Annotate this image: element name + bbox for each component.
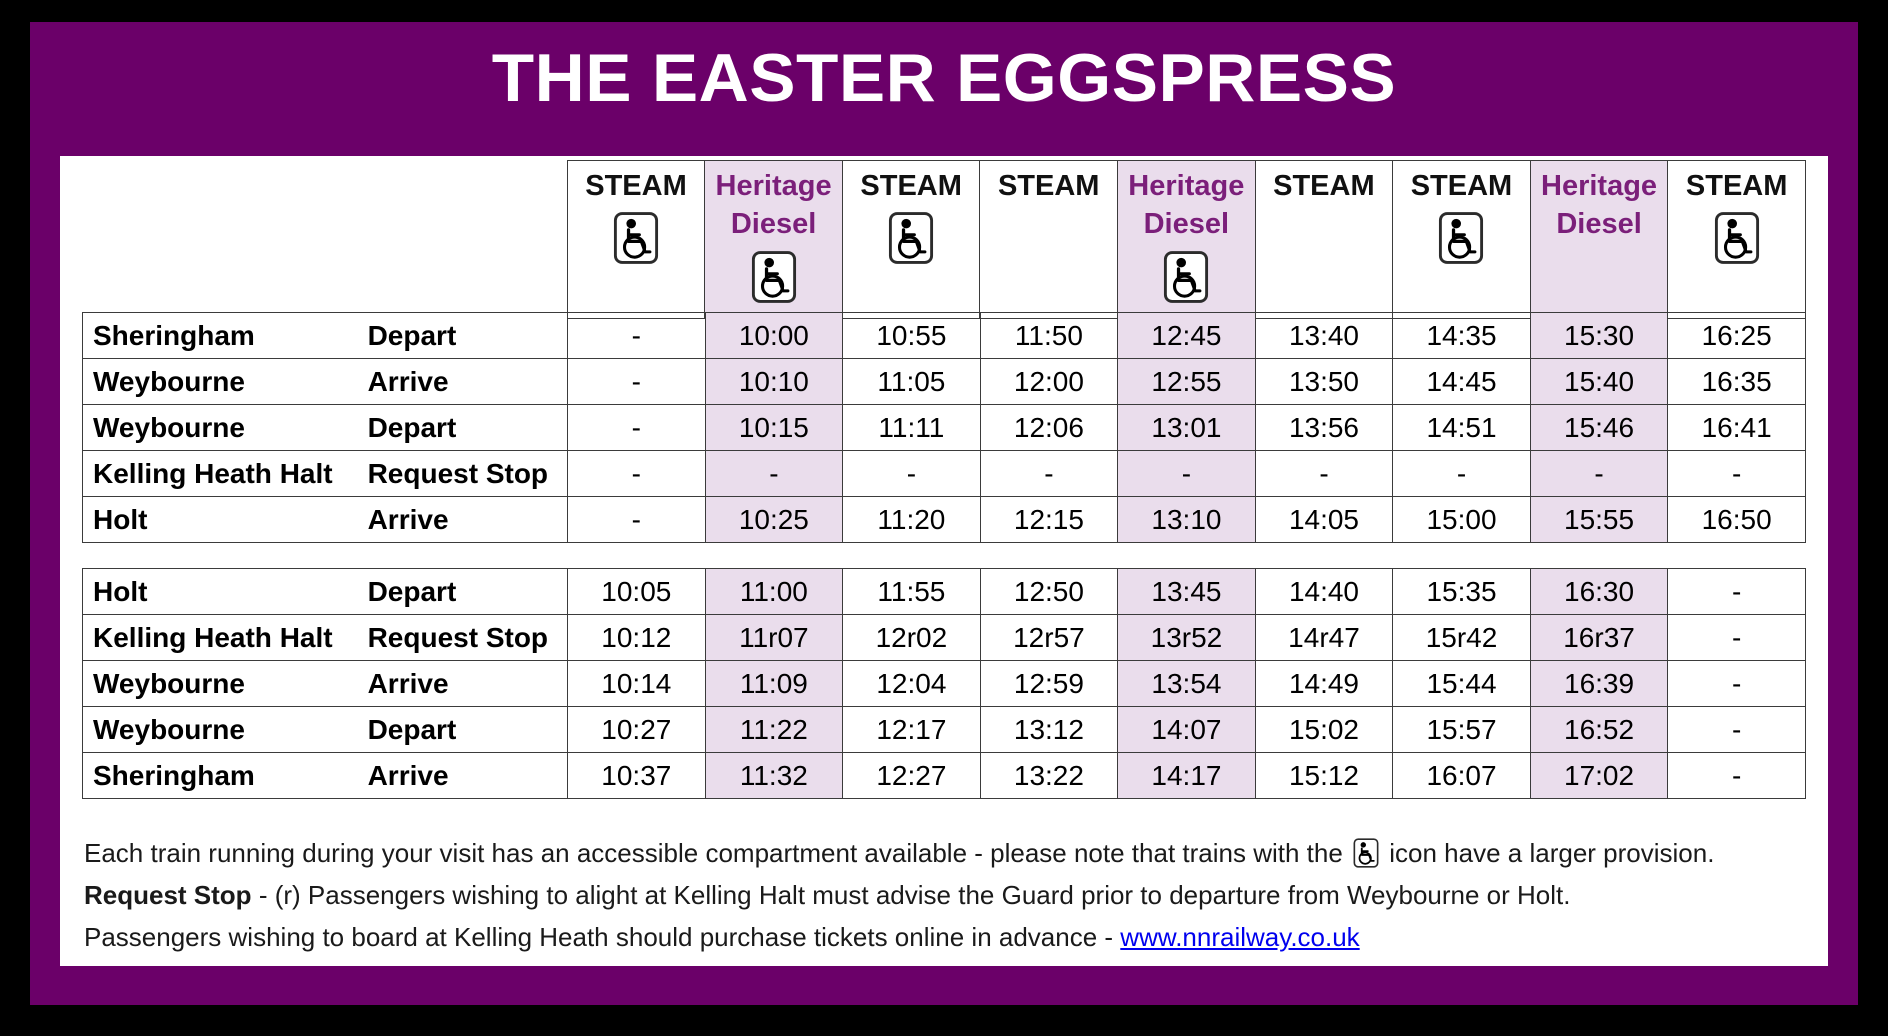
accessible-slot — [570, 211, 703, 275]
time-cell: - — [1393, 451, 1531, 497]
time-cell: - — [1668, 569, 1806, 615]
railway-website-link[interactable]: www.nnrailway.co.uk — [1120, 922, 1359, 952]
time-cell: 16:25 — [1668, 313, 1806, 359]
time-cell: 14:49 — [1255, 661, 1393, 707]
time-cell: - — [1530, 451, 1668, 497]
time-cell: 15:55 — [1530, 497, 1668, 543]
note-accessibility: Each train running during your visit has… — [84, 832, 1814, 874]
time-cell: 15:30 — [1530, 313, 1668, 359]
table-row: Kelling Heath HaltRequest Stop10:1211r07… — [83, 615, 1806, 661]
station-action: Arrive — [358, 661, 568, 707]
note-tickets-text: Passengers wishing to board at Kelling H… — [84, 922, 1113, 952]
time-cell: 11:00 — [705, 569, 843, 615]
service-header-6: STEAM — [1255, 161, 1393, 319]
station-action: Depart — [358, 405, 568, 451]
time-cell: 16:50 — [1668, 497, 1806, 543]
station-name: Kelling Heath Halt — [83, 615, 358, 661]
time-cell: 14:51 — [1393, 405, 1531, 451]
note-accessibility-text-before: Each train running during your visit has… — [84, 838, 1343, 868]
note-request-stop-text: - (r) Passengers wishing to alight at Ke… — [259, 880, 1571, 910]
accessible-slot — [1120, 250, 1253, 314]
station-name: Sheringham — [83, 753, 358, 799]
time-cell: 13:56 — [1255, 405, 1393, 451]
time-cell: - — [1668, 451, 1806, 497]
service-label-line1: Heritage — [1533, 167, 1666, 205]
service-header-2: HeritageDiesel — [705, 161, 843, 319]
time-cell: 13:10 — [1118, 497, 1256, 543]
time-cell: 13:40 — [1255, 313, 1393, 359]
note-tickets: Passengers wishing to board at Kelling H… — [84, 916, 1814, 958]
time-cell: 15:02 — [1255, 707, 1393, 753]
station-name: Weybourne — [83, 661, 358, 707]
time-cell: 13:54 — [1118, 661, 1256, 707]
time-cell: 13r52 — [1118, 615, 1256, 661]
wheelchair-icon — [1353, 837, 1379, 869]
wheelchair-icon — [1714, 211, 1760, 265]
time-cell: 14:17 — [1118, 753, 1256, 799]
note-request-stop-label: Request Stop — [84, 880, 252, 910]
service-label-line1: STEAM — [982, 167, 1115, 205]
time-cell: 15:40 — [1530, 359, 1668, 405]
time-cell: 16:41 — [1668, 405, 1806, 451]
station-action: Depart — [358, 707, 568, 753]
table-row: WeybourneArrive-10:1011:0512:0012:5513:5… — [83, 359, 1806, 405]
accessible-slot — [1533, 250, 1666, 314]
time-cell: 11:05 — [843, 359, 981, 405]
time-cell: 11:09 — [705, 661, 843, 707]
table-row: HoltDepart10:0511:0011:5512:5013:4514:40… — [83, 569, 1806, 615]
service-label-line2: Diesel — [1533, 205, 1666, 243]
table-row: HoltArrive-10:2511:2012:1513:1014:0515:0… — [83, 497, 1806, 543]
time-cell: 10:25 — [705, 497, 843, 543]
time-cell: 15:35 — [1393, 569, 1531, 615]
time-cell: 11:50 — [980, 313, 1118, 359]
station-action: Arrive — [358, 753, 568, 799]
service-label-line1: STEAM — [845, 167, 978, 205]
time-cell: - — [1118, 451, 1256, 497]
time-cell: 16:07 — [1393, 753, 1531, 799]
time-cell: - — [1668, 661, 1806, 707]
time-cell: 14:07 — [1118, 707, 1256, 753]
service-header-table: STEAMHeritageDieselSTEAMSTEAMHeritageDie… — [82, 160, 1806, 319]
service-label-line1: Heritage — [707, 167, 840, 205]
station-action: Arrive — [358, 497, 568, 543]
time-cell: - — [980, 451, 1118, 497]
station-name: Holt — [83, 497, 358, 543]
time-cell: 16:30 — [1530, 569, 1668, 615]
time-cell: - — [705, 451, 843, 497]
note-request-stop: Request Stop - (r) Passengers wishing to… — [84, 874, 1814, 916]
time-cell: 16:35 — [1668, 359, 1806, 405]
accessible-slot — [845, 211, 978, 275]
time-cell: 15:44 — [1393, 661, 1531, 707]
time-cell: 10:10 — [705, 359, 843, 405]
time-cell: 14:40 — [1255, 569, 1393, 615]
time-cell: - — [568, 451, 706, 497]
time-cell: 10:12 — [568, 615, 706, 661]
time-cell: 15:00 — [1393, 497, 1531, 543]
service-label-line1: STEAM — [1670, 167, 1803, 205]
table-row: WeybourneDepart10:2711:2212:1713:1214:07… — [83, 707, 1806, 753]
time-cell: 12:04 — [843, 661, 981, 707]
wheelchair-icon — [751, 250, 797, 304]
time-cell: 10:05 — [568, 569, 706, 615]
accessible-slot — [1670, 211, 1803, 275]
time-cell: 12:50 — [980, 569, 1118, 615]
time-cell: 13:50 — [1255, 359, 1393, 405]
time-cell: - — [568, 405, 706, 451]
time-cell: 10:27 — [568, 707, 706, 753]
accessible-slot — [1258, 211, 1391, 275]
station-action: Depart — [358, 569, 568, 615]
table-row: WeybourneDepart-10:1511:1112:0613:0113:5… — [83, 405, 1806, 451]
header-spacer-action — [357, 161, 567, 319]
service-header-1: STEAM — [567, 161, 705, 319]
service-label-line1: Heritage — [1120, 167, 1253, 205]
time-cell: 12:45 — [1118, 313, 1256, 359]
time-cell: 15r42 — [1393, 615, 1531, 661]
table-row: WeybourneArrive10:1411:0912:0412:5913:54… — [83, 661, 1806, 707]
time-cell: 10:14 — [568, 661, 706, 707]
time-cell: 11:20 — [843, 497, 981, 543]
service-header-7: STEAM — [1393, 161, 1531, 319]
outbound-timetable: SheringhamDepart-10:0010:5511:5012:4513:… — [82, 312, 1806, 543]
service-label-line1: STEAM — [1258, 167, 1391, 205]
time-cell: 10:00 — [705, 313, 843, 359]
time-cell: 10:55 — [843, 313, 981, 359]
service-label-line1: STEAM — [570, 167, 703, 205]
station-action: Request Stop — [358, 615, 568, 661]
time-cell: - — [843, 451, 981, 497]
header-spacer-station — [82, 161, 357, 319]
service-header-4: STEAM — [980, 161, 1118, 319]
time-cell: 11r07 — [705, 615, 843, 661]
service-label-line2: Diesel — [1120, 205, 1253, 243]
time-cell: 13:01 — [1118, 405, 1256, 451]
station-name: Weybourne — [83, 359, 358, 405]
wheelchair-icon — [613, 211, 659, 265]
time-cell: - — [1668, 615, 1806, 661]
time-cell: 12:55 — [1118, 359, 1256, 405]
time-cell: 12:17 — [843, 707, 981, 753]
time-cell: - — [1668, 707, 1806, 753]
time-cell: - — [1255, 451, 1393, 497]
time-cell: 11:55 — [843, 569, 981, 615]
time-cell: 12:00 — [980, 359, 1118, 405]
station-action: Request Stop — [358, 451, 568, 497]
wheelchair-icon — [1438, 211, 1484, 265]
time-cell: - — [568, 497, 706, 543]
time-cell: 15:12 — [1255, 753, 1393, 799]
note-accessibility-text-after: icon have a larger provision. — [1389, 838, 1714, 868]
time-cell: 12:59 — [980, 661, 1118, 707]
time-cell: 11:22 — [705, 707, 843, 753]
time-cell: - — [568, 313, 706, 359]
station-name: Kelling Heath Halt — [83, 451, 358, 497]
service-header-8: HeritageDiesel — [1530, 161, 1668, 319]
time-cell: 12r57 — [980, 615, 1118, 661]
station-action: Arrive — [358, 359, 568, 405]
station-name: Holt — [83, 569, 358, 615]
service-header-9: STEAM — [1668, 161, 1806, 319]
time-cell: 12r02 — [843, 615, 981, 661]
time-cell: 15:57 — [1393, 707, 1531, 753]
time-cell: - — [1668, 753, 1806, 799]
time-cell: 12:06 — [980, 405, 1118, 451]
time-cell: 16r37 — [1530, 615, 1668, 661]
return-timetable: HoltDepart10:0511:0011:5512:5013:4514:40… — [82, 568, 1806, 799]
wheelchair-icon — [888, 211, 934, 265]
table-row: Kelling Heath HaltRequest Stop--------- — [83, 451, 1806, 497]
time-cell: 10:37 — [568, 753, 706, 799]
service-label-line2: Diesel — [707, 205, 840, 243]
time-cell: 12:27 — [843, 753, 981, 799]
page-title: THE EASTER EGGSPRESS — [12, 22, 1877, 134]
accessible-slot — [982, 211, 1115, 275]
accessible-slot — [1395, 211, 1528, 275]
station-action: Depart — [358, 313, 568, 359]
station-name: Weybourne — [83, 405, 358, 451]
time-cell: 13:12 — [980, 707, 1118, 753]
station-name: Sheringham — [83, 313, 358, 359]
time-cell: 11:32 — [705, 753, 843, 799]
service-header-row: STEAMHeritageDieselSTEAMSTEAMHeritageDie… — [82, 161, 1806, 319]
footnotes: Each train running during your visit has… — [84, 832, 1814, 958]
time-cell: 14:05 — [1255, 497, 1393, 543]
time-cell: 16:52 — [1530, 707, 1668, 753]
service-label-line1: STEAM — [1395, 167, 1528, 205]
poster-frame: THE EASTER EGGSPRESS STEAMHeritageDiesel… — [30, 22, 1858, 1005]
station-name: Weybourne — [83, 707, 358, 753]
time-cell: - — [568, 359, 706, 405]
time-cell: 13:45 — [1118, 569, 1256, 615]
service-header-3: STEAM — [842, 161, 980, 319]
time-cell: 13:22 — [980, 753, 1118, 799]
table-row: SheringhamDepart-10:0010:5511:5012:4513:… — [83, 313, 1806, 359]
accessible-slot — [707, 250, 840, 314]
service-header-5: HeritageDiesel — [1118, 161, 1256, 319]
time-cell: 14:45 — [1393, 359, 1531, 405]
wheelchair-icon — [1163, 250, 1209, 304]
time-cell: 15:46 — [1530, 405, 1668, 451]
time-cell: 14r47 — [1255, 615, 1393, 661]
time-cell: 12:15 — [980, 497, 1118, 543]
timetable-panel: STEAMHeritageDieselSTEAMSTEAMHeritageDie… — [60, 156, 1828, 966]
table-row: SheringhamArrive10:3711:3212:2713:2214:1… — [83, 753, 1806, 799]
time-cell: 10:15 — [705, 405, 843, 451]
time-cell: 16:39 — [1530, 661, 1668, 707]
time-cell: 11:11 — [843, 405, 981, 451]
time-cell: 17:02 — [1530, 753, 1668, 799]
time-cell: 14:35 — [1393, 313, 1531, 359]
